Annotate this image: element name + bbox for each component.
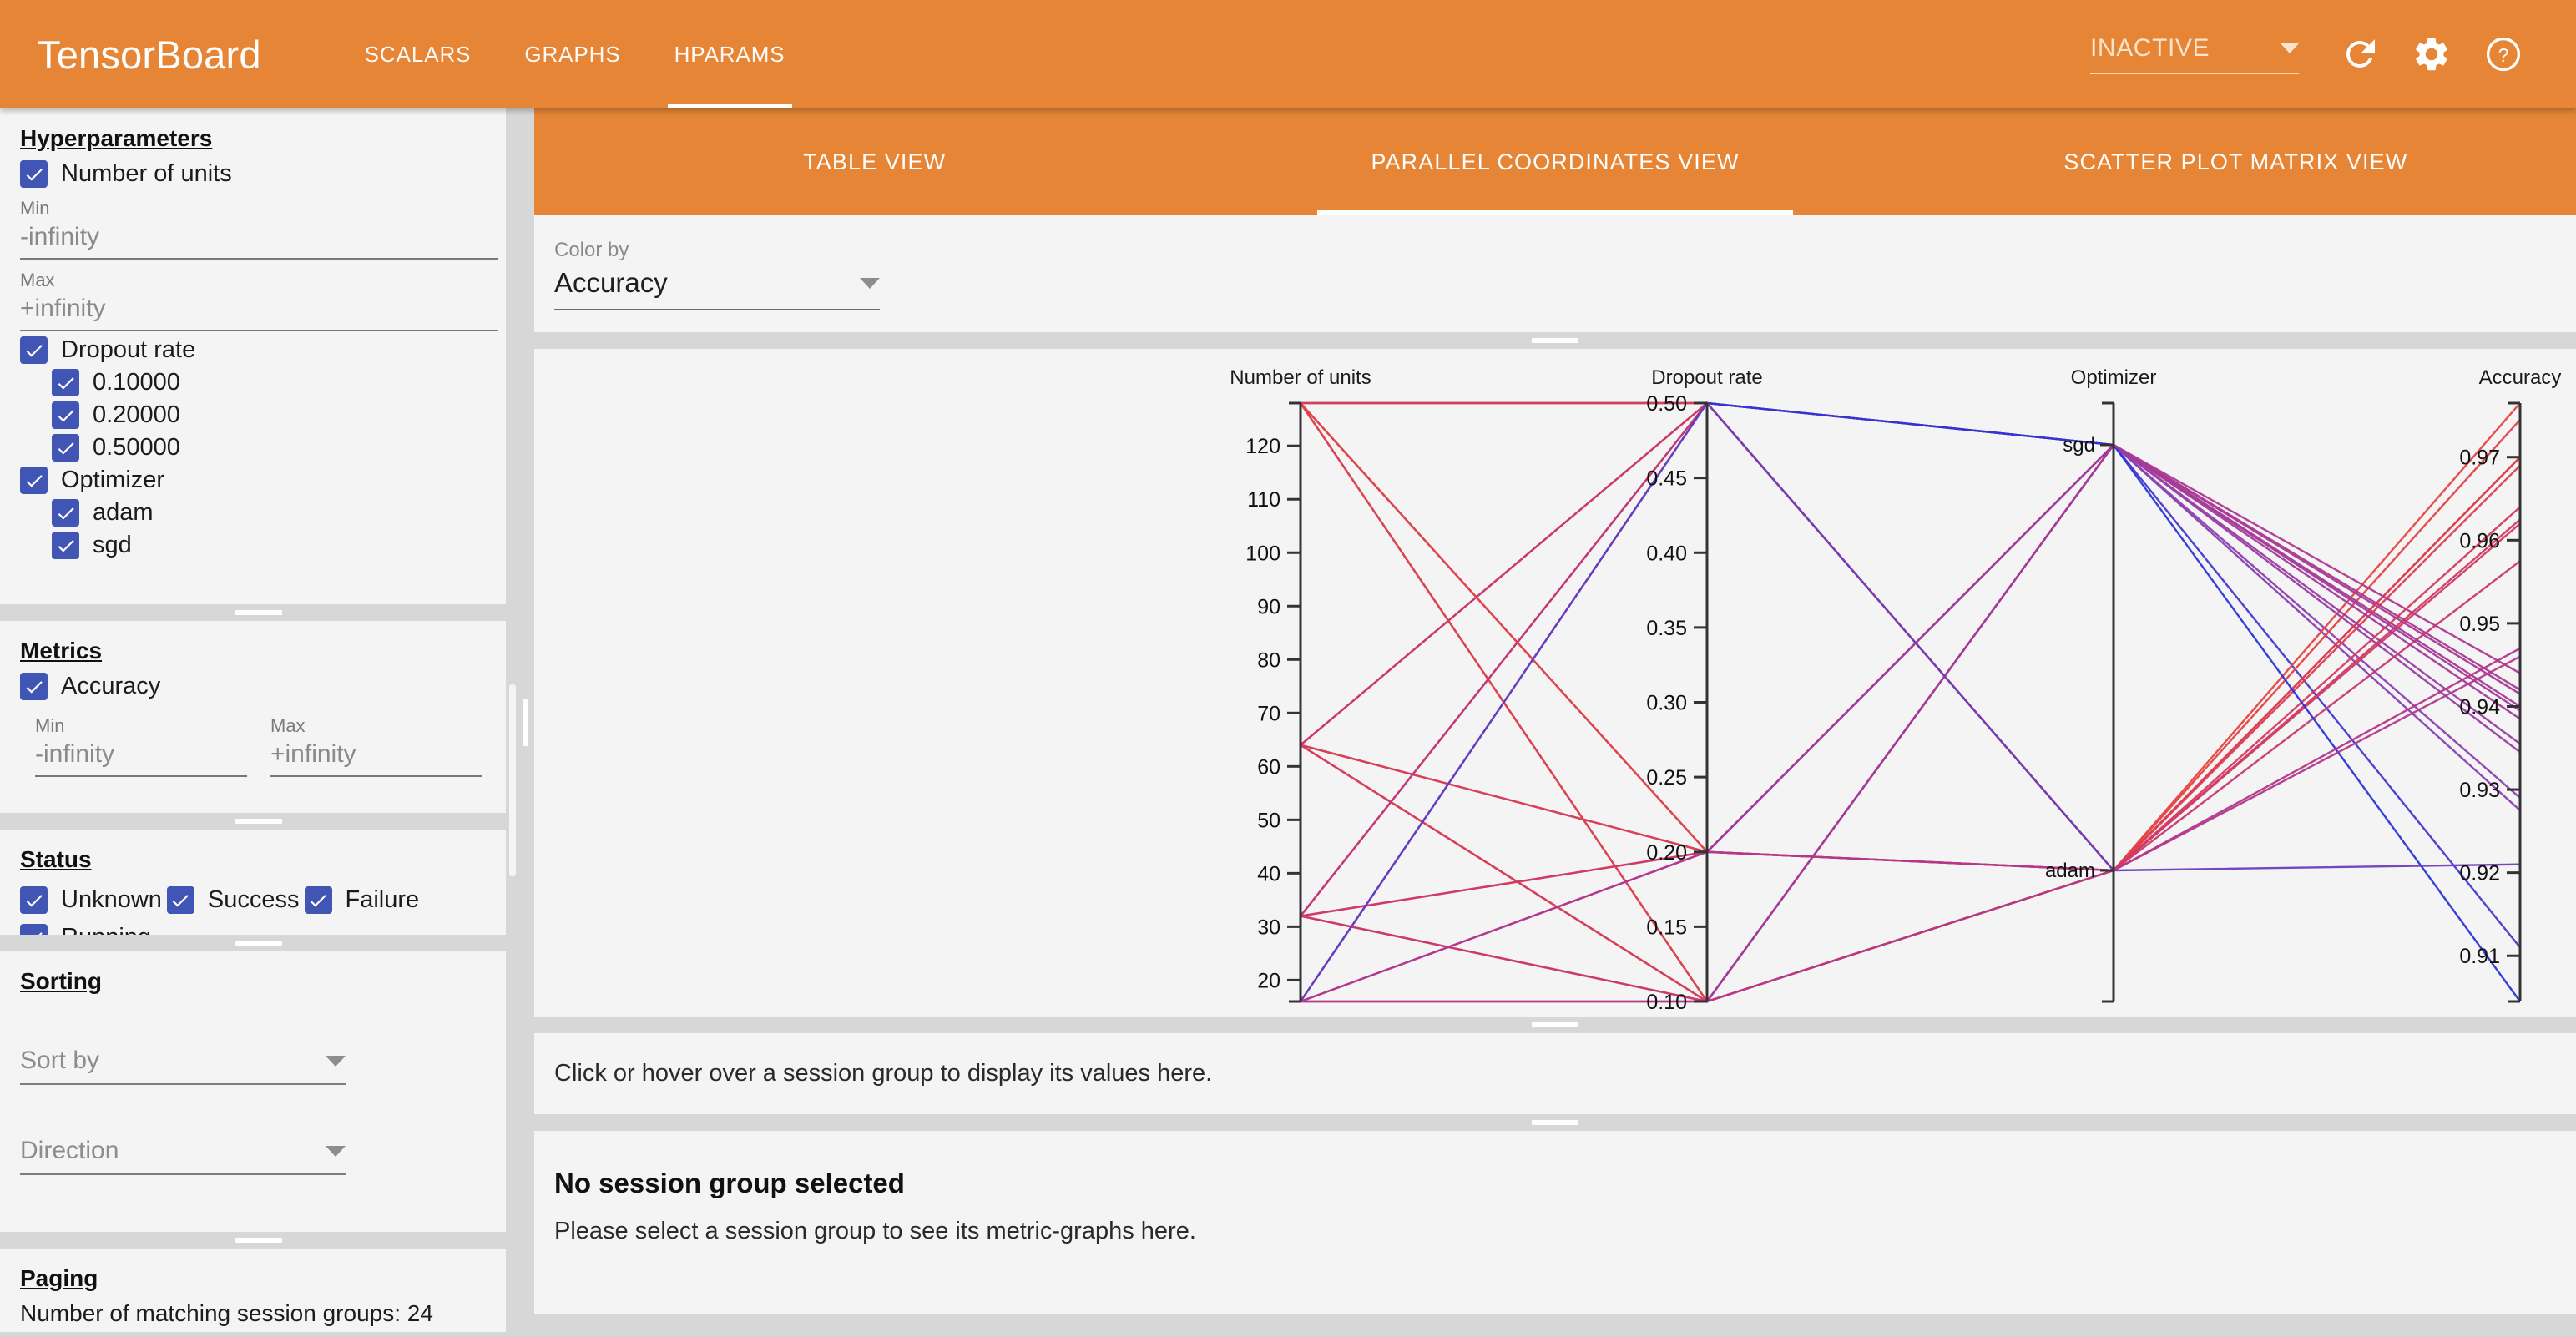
filter-dropout-rate-label: Dropout rate bbox=[61, 336, 195, 364]
filter-dropout-value-label: 0.20000 bbox=[93, 401, 180, 429]
sidebar-splitter[interactable] bbox=[0, 935, 518, 951]
axis-title: Optimizer bbox=[2071, 366, 2157, 389]
axis-tick-label: 20 bbox=[1257, 969, 1280, 992]
view-tabs: TABLE VIEW PARALLEL COORDINATES VIEW SCA… bbox=[534, 108, 2576, 215]
axis-tick-label: 0.40 bbox=[1646, 542, 1687, 565]
filter-optimizer-value[interactable]: sgd bbox=[52, 532, 498, 559]
checkbox-checked-icon[interactable] bbox=[52, 434, 79, 462]
top-app-bar: TensorBoard SCALARS GRAPHS HPARAMS INACT… bbox=[0, 0, 2576, 108]
session-line bbox=[1301, 457, 2520, 870]
axis-tick-label: adam bbox=[2045, 860, 2095, 882]
session-line bbox=[1301, 403, 2520, 947]
sidebar-splitter[interactable] bbox=[0, 604, 518, 621]
session-line bbox=[1301, 403, 2520, 852]
status-card: Status Unknown Success bbox=[0, 830, 518, 935]
tensorboard-hparams-app: TensorBoard SCALARS GRAPHS HPARAMS INACT… bbox=[0, 0, 2576, 1337]
axis-tick-label: 50 bbox=[1257, 809, 1280, 832]
checkbox-checked-icon[interactable] bbox=[305, 886, 332, 914]
svg-text:?: ? bbox=[2498, 44, 2509, 66]
filter-optimizer-label: Optimizer bbox=[61, 467, 164, 494]
sort-by-value: Sort by bbox=[20, 1047, 99, 1075]
metrics-card: Metrics Accuracy Min -infinity Max +infi… bbox=[0, 621, 518, 813]
axis-title: Number of units bbox=[1230, 366, 1371, 389]
settings-button[interactable] bbox=[2396, 18, 2467, 90]
session-line bbox=[1301, 403, 2520, 1001]
tab-parallel-coordinates-view[interactable]: PARALLEL COORDINATES VIEW bbox=[1215, 108, 1895, 215]
color-by-panel: Color by Accuracy bbox=[534, 215, 2576, 332]
filter-dropout-rate[interactable]: Dropout rate bbox=[20, 336, 498, 364]
filter-number-of-units-label: Number of units bbox=[61, 160, 232, 188]
units-max-input[interactable]: +infinity bbox=[20, 295, 498, 331]
checkbox-checked-icon[interactable] bbox=[20, 924, 48, 935]
tab-graphs[interactable]: GRAPHS bbox=[498, 0, 647, 108]
session-line bbox=[1301, 403, 2520, 1001]
axis-tick-label: 0.50 bbox=[1646, 392, 1687, 416]
filter-number-of-units[interactable]: Number of units bbox=[20, 160, 498, 188]
chevron-down-icon bbox=[326, 1146, 346, 1157]
session-line bbox=[1301, 657, 2520, 1001]
sorting-title: Sorting bbox=[20, 968, 498, 995]
axis-tick-label: 0.94 bbox=[2459, 695, 2500, 719]
axis-1: Dropout rate0.100.150.200.250.300.350.40… bbox=[1646, 366, 1762, 1014]
session-values-panel: Click or hover over a session group to d… bbox=[534, 1033, 2576, 1114]
axis-tick-label: 30 bbox=[1257, 916, 1280, 939]
units-min-field[interactable]: Min -infinity bbox=[20, 198, 498, 260]
filter-dropout-value[interactable]: 0.20000 bbox=[52, 401, 498, 429]
axis-tick-label: 0.15 bbox=[1646, 916, 1687, 939]
chart-lines bbox=[1301, 403, 2520, 1001]
filter-dropout-value-label: 0.10000 bbox=[93, 369, 180, 396]
axis-tick-label: 0.91 bbox=[2459, 945, 2500, 968]
chevron-down-icon bbox=[860, 278, 880, 289]
status-checkbox-row: Unknown Success Failure bbox=[20, 881, 498, 935]
axis-0: Number of units2030405060708090100110120 bbox=[1230, 366, 1371, 1001]
sidebar-scrollbar-thumb[interactable] bbox=[509, 684, 516, 876]
tab-scalars-label: SCALARS bbox=[365, 42, 472, 68]
checkbox-checked-icon[interactable] bbox=[20, 336, 48, 364]
axis-tick-label: sgd bbox=[2063, 434, 2095, 457]
axis-tick-label: 100 bbox=[1245, 542, 1280, 565]
axis-tick-label: 0.30 bbox=[1646, 692, 1687, 715]
axis-tick-label: 0.25 bbox=[1646, 766, 1687, 790]
axis-tick-label: 70 bbox=[1257, 702, 1280, 725]
filter-optimizer[interactable]: Optimizer bbox=[20, 467, 498, 494]
axis-tick-label: 0.95 bbox=[2459, 613, 2500, 636]
filter-optimizer-value-label: sgd bbox=[93, 532, 132, 559]
accuracy-max-field[interactable]: Max +infinity bbox=[270, 715, 482, 777]
help-icon: ? bbox=[2483, 34, 2523, 74]
sorting-card: Sorting Sort by Direction bbox=[0, 951, 518, 1232]
refresh-icon bbox=[2340, 34, 2380, 74]
hover-hint-text: Click or hover over a session group to d… bbox=[554, 1060, 2556, 1087]
filter-dropout-value[interactable]: 0.50000 bbox=[52, 434, 498, 462]
axis-tick-label: 40 bbox=[1257, 862, 1280, 885]
axis-tick-label: 120 bbox=[1245, 435, 1280, 458]
checkbox-checked-icon[interactable] bbox=[52, 499, 79, 527]
parallel-coordinates-chart[interactable]: Number of units2030405060708090100110120… bbox=[534, 349, 2576, 1017]
gear-icon bbox=[2412, 34, 2452, 74]
axis-tick-label: 0.92 bbox=[2459, 862, 2500, 885]
checkbox-checked-icon[interactable] bbox=[167, 886, 194, 914]
filter-status-failure-label: Failure bbox=[346, 886, 420, 914]
filter-status-failure[interactable]: Failure bbox=[305, 886, 420, 914]
color-by-label: Color by bbox=[554, 239, 2556, 262]
tab-scalars[interactable]: SCALARS bbox=[338, 0, 498, 108]
axis-title: Accuracy bbox=[2479, 366, 2562, 389]
metric-graphs-title: No session group selected bbox=[554, 1168, 2556, 1199]
tab-table-view[interactable]: TABLE VIEW bbox=[534, 108, 1215, 215]
matching-session-groups-text: Number of matching session groups: 24 bbox=[20, 1300, 498, 1327]
axis-tick-label: 90 bbox=[1257, 595, 1280, 618]
axis-tick-label: 110 bbox=[1247, 488, 1280, 512]
sidebar-splitter[interactable] bbox=[0, 813, 518, 830]
filter-status-running-label: Running bbox=[61, 924, 151, 935]
units-min-label: Min bbox=[20, 198, 498, 219]
checkbox-checked-icon[interactable] bbox=[20, 467, 48, 494]
axis-tick-label: 0.35 bbox=[1646, 617, 1687, 640]
tab-table-view-label: TABLE VIEW bbox=[803, 149, 946, 175]
filter-status-success-label: Success bbox=[208, 886, 300, 914]
top-nav: SCALARS GRAPHS HPARAMS bbox=[338, 0, 812, 108]
filter-status-unknown-label: Unknown bbox=[61, 886, 162, 914]
checkbox-checked-icon[interactable] bbox=[20, 160, 48, 188]
sidebar-scrollbar[interactable] bbox=[506, 108, 518, 1337]
units-min-input[interactable]: -infinity bbox=[20, 223, 498, 260]
axis-tick-label: 80 bbox=[1257, 648, 1280, 672]
checkbox-checked-icon[interactable] bbox=[52, 532, 79, 559]
sidebar-resize-handle[interactable] bbox=[518, 108, 534, 1337]
filter-accuracy[interactable]: Accuracy bbox=[20, 673, 498, 700]
tab-graphs-label: GRAPHS bbox=[524, 42, 620, 68]
checkbox-checked-icon[interactable] bbox=[52, 369, 79, 396]
tab-hparams[interactable]: HPARAMS bbox=[648, 0, 812, 108]
paging-card: Paging Number of matching session groups… bbox=[0, 1249, 518, 1332]
top-bar-actions: INACTIVE ? bbox=[2090, 18, 2576, 90]
accuracy-min-label: Min bbox=[35, 715, 247, 737]
filters-sidebar: Hyperparameters Number of units Min -inf… bbox=[0, 108, 518, 1337]
sidebar-splitter[interactable] bbox=[0, 1232, 518, 1249]
metrics-title: Metrics bbox=[20, 638, 498, 664]
tab-scatter-plot-matrix-view-label: SCATTER PLOT MATRIX VIEW bbox=[2063, 149, 2407, 175]
app-title: TensorBoard bbox=[37, 32, 261, 78]
filter-optimizer-value[interactable]: adam bbox=[52, 499, 498, 527]
axis-tick-label: 60 bbox=[1257, 755, 1280, 779]
filter-accuracy-label: Accuracy bbox=[61, 673, 160, 700]
tab-scatter-plot-matrix-view[interactable]: SCATTER PLOT MATRIX VIEW bbox=[1896, 108, 2576, 215]
accuracy-max-label: Max bbox=[270, 715, 482, 737]
axis-tick-label: 0.97 bbox=[2459, 447, 2500, 470]
filter-status-success[interactable]: Success bbox=[167, 886, 300, 914]
filter-status-unknown[interactable]: Unknown bbox=[20, 886, 162, 914]
hyperparameters-card: Hyperparameters Number of units Min -inf… bbox=[0, 108, 518, 604]
refresh-button[interactable] bbox=[2324, 18, 2396, 90]
run-status-select[interactable]: INACTIVE bbox=[2090, 34, 2299, 74]
axis-tick-label: 0.93 bbox=[2459, 779, 2500, 802]
axis-title: Dropout rate bbox=[1651, 366, 1762, 389]
checkbox-checked-icon[interactable] bbox=[20, 886, 48, 914]
session-line bbox=[1301, 403, 2520, 1001]
tab-parallel-coordinates-view-label: PARALLEL COORDINATES VIEW bbox=[1371, 149, 1739, 175]
units-max-field[interactable]: Max +infinity bbox=[20, 270, 498, 331]
axis-tick-label: 0.10 bbox=[1646, 991, 1687, 1014]
accuracy-max-input[interactable]: +infinity bbox=[270, 740, 482, 777]
session-line bbox=[1301, 445, 2520, 1001]
status-title: Status bbox=[20, 846, 498, 873]
session-line bbox=[1301, 403, 2520, 916]
accuracy-min-input[interactable]: -infinity bbox=[35, 740, 247, 777]
color-by-value: Accuracy bbox=[554, 267, 668, 299]
metric-graphs-panel: No session group selected Please select … bbox=[534, 1131, 2576, 1314]
session-line bbox=[1301, 403, 2520, 1001]
chevron-down-icon bbox=[326, 1056, 346, 1067]
metric-splitter[interactable] bbox=[534, 1114, 2576, 1131]
run-status-label: INACTIVE bbox=[2090, 34, 2210, 63]
help-button[interactable]: ? bbox=[2467, 18, 2539, 90]
session-line bbox=[1301, 403, 2520, 916]
units-max-label: Max bbox=[20, 270, 498, 291]
hyperparameters-title: Hyperparameters bbox=[20, 125, 498, 152]
axis-tick-label: 0.96 bbox=[2459, 529, 2500, 552]
filter-dropout-value[interactable]: 0.10000 bbox=[52, 369, 498, 396]
axis-tick-label: 0.45 bbox=[1646, 467, 1687, 491]
chart-splitter-bottom[interactable] bbox=[534, 1017, 2576, 1033]
parallel-coordinates-svg[interactable]: Number of units2030405060708090100110120… bbox=[534, 349, 2576, 1017]
direction-select[interactable]: Direction bbox=[20, 1137, 346, 1175]
metric-graphs-subtitle: Please select a session group to see its… bbox=[554, 1218, 2556, 1245]
accuracy-min-field[interactable]: Min -infinity bbox=[35, 715, 247, 777]
chart-splitter-top[interactable] bbox=[534, 332, 2576, 349]
session-line bbox=[1301, 507, 2520, 916]
color-by-select[interactable]: Accuracy bbox=[554, 267, 880, 310]
axis-tick-label: 0.20 bbox=[1646, 841, 1687, 865]
checkbox-checked-icon[interactable] bbox=[52, 401, 79, 429]
filter-optimizer-value-label: adam bbox=[93, 499, 154, 527]
direction-value: Direction bbox=[20, 1137, 119, 1165]
checkbox-checked-icon[interactable] bbox=[20, 673, 48, 700]
filter-dropout-value-label: 0.50000 bbox=[93, 434, 180, 462]
tab-hparams-label: HPARAMS bbox=[674, 42, 785, 68]
paging-title: Paging bbox=[20, 1265, 498, 1292]
filter-status-running[interactable]: Running bbox=[20, 924, 151, 935]
main-content: TABLE VIEW PARALLEL COORDINATES VIEW SCA… bbox=[534, 108, 2576, 1337]
sort-by-select[interactable]: Sort by bbox=[20, 1047, 346, 1085]
chevron-down-icon bbox=[2281, 43, 2299, 53]
